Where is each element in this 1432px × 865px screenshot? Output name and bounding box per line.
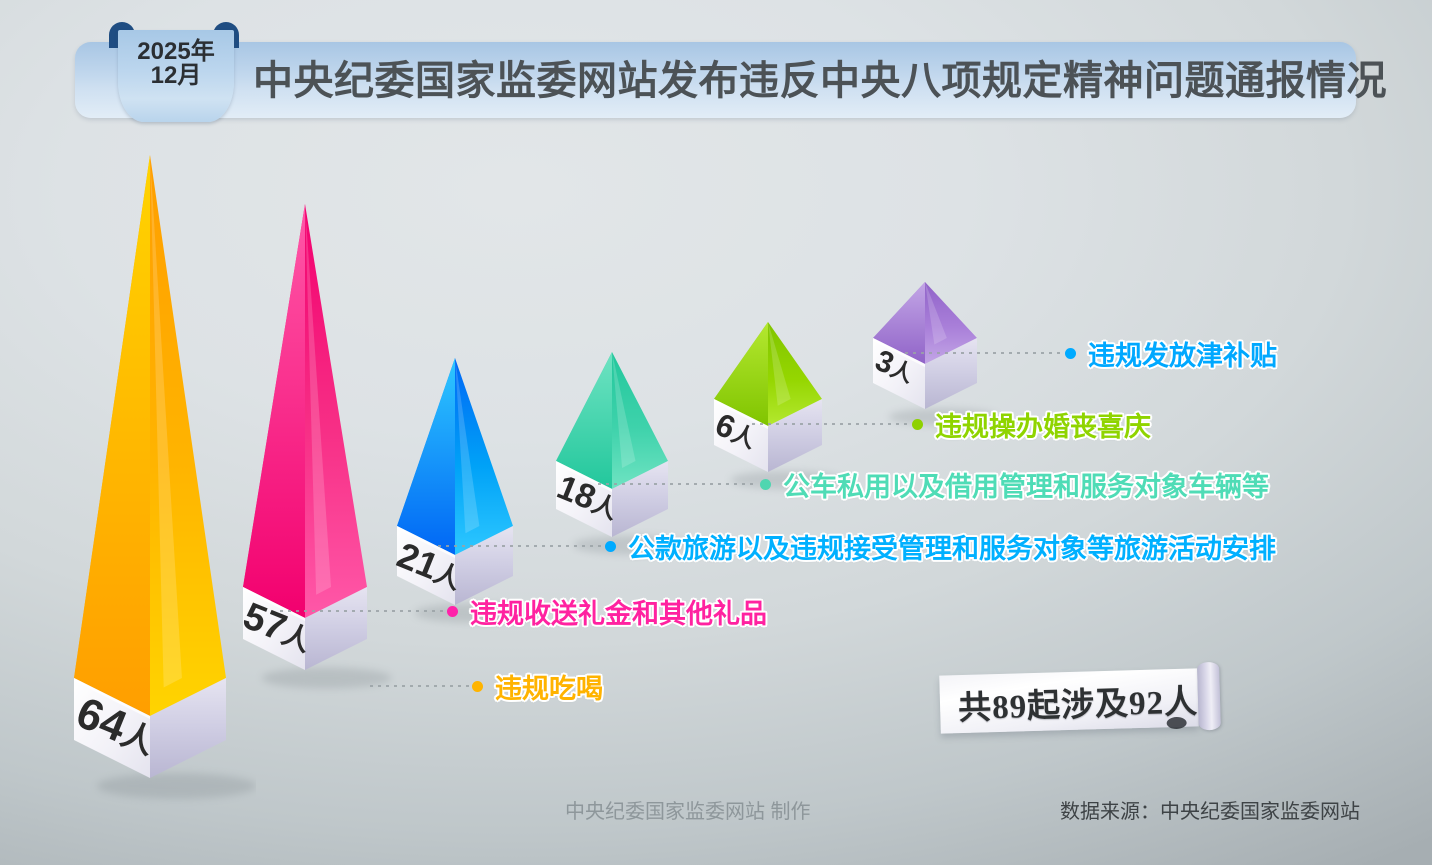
- ribbon-roll: [1197, 662, 1221, 731]
- leader-line: [280, 610, 445, 612]
- leader-line: [752, 423, 910, 425]
- callout-3: 公款旅游以及违规接受管理和服务对象等旅游活动安排: [438, 528, 1276, 564]
- legend-dot: [760, 479, 771, 490]
- leader-line: [598, 483, 758, 485]
- leader-line: [370, 685, 470, 687]
- leader-line: [905, 352, 1063, 354]
- legend-dot: [912, 419, 923, 430]
- callout-label: 违规发放津补贴: [1088, 334, 1277, 373]
- callout-4: 公车私用以及借用管理和服务对象车辆等: [598, 466, 1269, 502]
- summary-ribbon: 共89起涉及92人: [939, 668, 1199, 733]
- callout-label: 违规收送礼金和其他礼品: [470, 592, 767, 631]
- callout-1: 违规吃喝: [370, 668, 603, 704]
- leader-line: [438, 545, 603, 547]
- date-year: 2025年: [118, 30, 234, 64]
- callout-label: 违规操办婚丧喜庆: [935, 405, 1151, 444]
- ribbon-roll-cap: [1166, 717, 1186, 730]
- callout-5: 违规操办婚丧喜庆: [752, 406, 1151, 442]
- legend-dot: [472, 681, 483, 692]
- callout-6: 违规发放津补贴: [905, 335, 1277, 371]
- date-month: 12月: [118, 64, 234, 88]
- callout-label: 违规吃喝: [495, 667, 603, 706]
- date-bookmark-tab: 2025年 12月: [118, 30, 234, 122]
- credit-text: 中央纪委国家监委网站 制作: [565, 795, 811, 824]
- source-text: 数据来源：中央纪委国家监委网站: [1060, 795, 1360, 824]
- legend-dot: [605, 541, 616, 552]
- legend-dot: [447, 606, 458, 617]
- callout-label: 公款旅游以及违规接受管理和服务对象等旅游活动安排: [628, 527, 1276, 566]
- infographic-canvas: 2025年 12月 中央纪委国家监委网站发布违反中央八项规定精神问题通报情况 6…: [0, 0, 1432, 865]
- legend-dot: [1065, 348, 1076, 359]
- callout-label: 公车私用以及借用管理和服务对象车辆等: [783, 465, 1269, 504]
- summary-text: 共89起涉及92人: [957, 674, 1198, 729]
- callout-2: 违规收送礼金和其他礼品: [280, 593, 767, 629]
- page-title: 中央纪委国家监委网站发布违反中央八项规定精神问题通报情况: [253, 48, 1343, 114]
